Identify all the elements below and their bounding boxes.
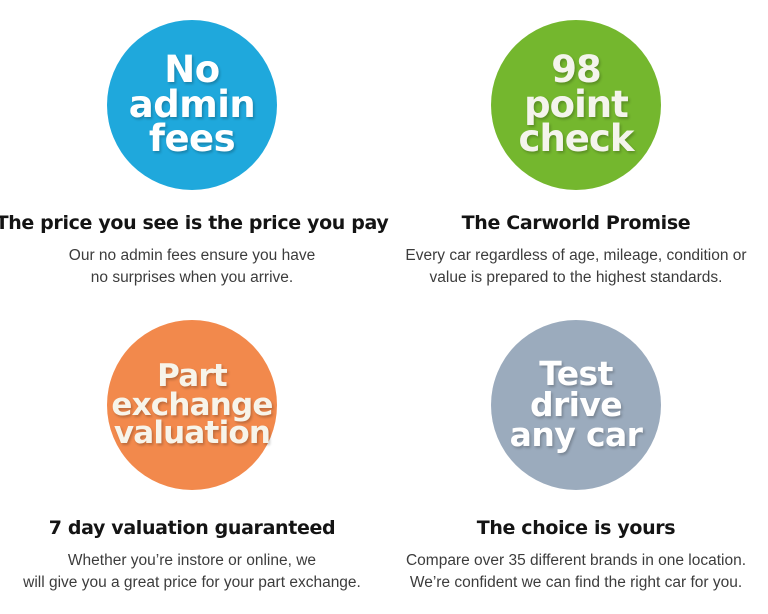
badge-text: Part exchange valuation [111, 362, 272, 448]
test-drive-any-car-badge-icon: Test drive any car [491, 320, 661, 490]
feature-body: Compare over 35 different brands in one … [406, 550, 746, 594]
features-grid: No admin fees The price you see is the p… [0, 0, 768, 614]
feature-heading: The choice is yours [477, 517, 676, 539]
feature-card-98-point-check: 98 point check The Carworld Promise Ever… [384, 0, 768, 307]
badge-line: any car [510, 420, 643, 451]
feature-body: Whether you’re instore or online, we wil… [23, 550, 361, 594]
feature-heading: The Carworld Promise [462, 212, 691, 234]
feature-heading: The price you see is the price you pay [0, 212, 388, 234]
feature-card-part-exchange-valuation: Part exchange valuation 7 day valuation … [0, 307, 384, 614]
part-exchange-valuation-badge-icon: Part exchange valuation [107, 320, 277, 490]
badge-text: Test drive any car [510, 359, 643, 451]
badge-text: No admin fees [129, 53, 256, 156]
badge-line: check [519, 122, 634, 156]
feature-card-test-drive-any-car: Test drive any car The choice is yours C… [384, 307, 768, 614]
feature-body: Every car regardless of age, mileage, co… [405, 245, 746, 289]
feature-card-no-admin-fees: No admin fees The price you see is the p… [0, 0, 384, 307]
98-point-check-badge-icon: 98 point check [491, 20, 661, 190]
badge-line: valuation [111, 419, 272, 448]
feature-heading: 7 day valuation guaranteed [49, 517, 336, 539]
no-admin-fees-badge-icon: No admin fees [107, 20, 277, 190]
feature-body: Our no admin fees ensure you have no sur… [69, 245, 315, 289]
badge-text: 98 point check [519, 53, 634, 156]
badge-line: fees [129, 122, 256, 156]
